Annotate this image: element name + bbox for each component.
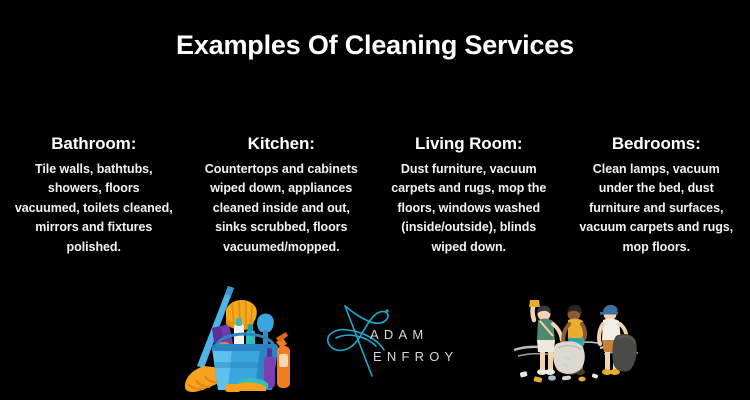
column-heading: Bathroom: (14, 133, 174, 155)
column-body: Countertops and cabinets wiped down, app… (202, 160, 362, 257)
column-body: Tile walls, bathtubs, showers, floors va… (14, 160, 174, 257)
volunteers-cleanup-illustration-icon (512, 298, 640, 384)
cleaning-supplies-illustration-icon (182, 280, 294, 394)
adam-enfroy-logo-text: ADAM ENFROY (370, 324, 482, 368)
service-column-bathroom: Bathroom: Tile walls, bathtubs, showers,… (0, 133, 188, 257)
cleaning-services-infographic: Examples Of Cleaning Services Bathroom: … (0, 0, 750, 400)
service-column-living-room: Living Room: Dust furniture, vacuum carp… (375, 133, 563, 257)
logo-word-enfroy: ENFROY (373, 346, 482, 368)
column-body: Clean lamps, vacuum under the bed, dust … (577, 160, 737, 257)
logo-word-adam: ADAM (370, 324, 482, 346)
page-title: Examples Of Cleaning Services (0, 28, 750, 62)
service-columns: Bathroom: Tile walls, bathtubs, showers,… (0, 133, 750, 257)
column-heading: Kitchen: (202, 133, 362, 155)
service-column-kitchen: Kitchen: Countertops and cabinets wiped … (188, 133, 376, 257)
column-body: Dust furniture, vacuum carpets and rugs,… (389, 160, 549, 257)
service-column-bedrooms: Bedrooms: Clean lamps, vacuum under the … (563, 133, 750, 257)
bottom-media-strip: ADAM ENFROY (0, 272, 750, 400)
adam-enfroy-logo: ADAM ENFROY (322, 298, 480, 378)
column-heading: Bedrooms: (577, 133, 737, 155)
column-heading: Living Room: (389, 133, 549, 155)
